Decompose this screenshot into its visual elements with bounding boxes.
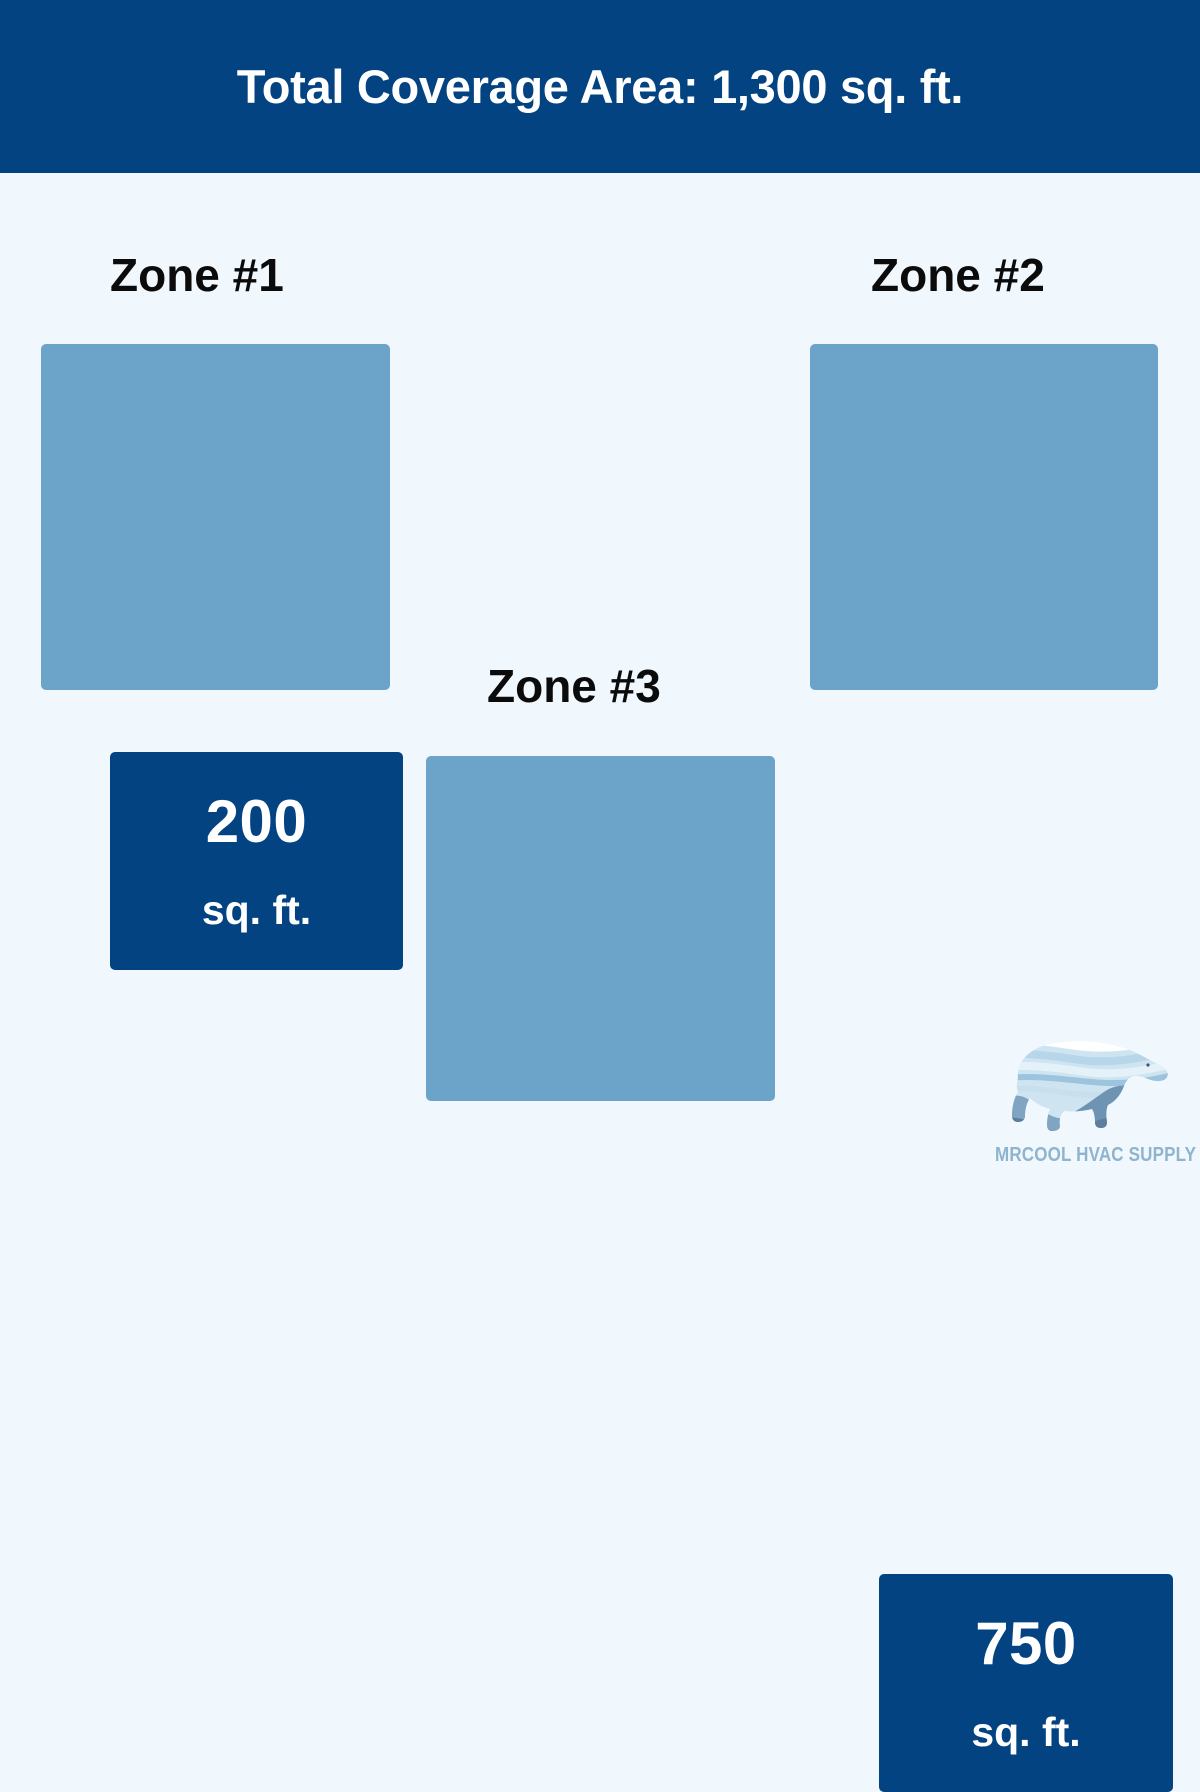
polar-bear-icon bbox=[988, 1022, 1173, 1142]
header-bar: Total Coverage Area: 1,300 sq. ft. bbox=[0, 0, 1200, 173]
zone-label-2: Zone #2 bbox=[871, 252, 1045, 298]
bear-texture bbox=[988, 1022, 1173, 1142]
zone-value-3: 750 bbox=[975, 1614, 1077, 1674]
zone-outer-box-2: 350 sq. ft. bbox=[810, 344, 1158, 690]
zone-inner-box-1: 200 sq. ft. bbox=[110, 752, 403, 970]
logo-wordmark: MRCOOL HVAC SUPPLY bbox=[995, 1144, 1165, 1167]
brand-logo: MRCOOL HVAC SUPPLY bbox=[980, 1022, 1180, 1187]
zone-outer-box-3: 750 sq. ft. bbox=[426, 756, 775, 1101]
infographic-canvas: Total Coverage Area: 1,300 sq. ft. Zone … bbox=[0, 0, 1200, 1200]
bear-eye-icon bbox=[1146, 1063, 1149, 1066]
zone-label-3: Zone #3 bbox=[487, 663, 661, 709]
zone-unit-3: sq. ft. bbox=[971, 1712, 1080, 1753]
zone-inner-box-3: 750 sq. ft. bbox=[879, 1574, 1173, 1792]
zone-label-1: Zone #1 bbox=[110, 252, 284, 298]
page-title: Total Coverage Area: 1,300 sq. ft. bbox=[237, 63, 963, 110]
zone-unit-1: sq. ft. bbox=[202, 890, 311, 931]
zone-value-1: 200 bbox=[206, 792, 308, 852]
zone-outer-box-1: 200 sq. ft. bbox=[41, 344, 390, 690]
